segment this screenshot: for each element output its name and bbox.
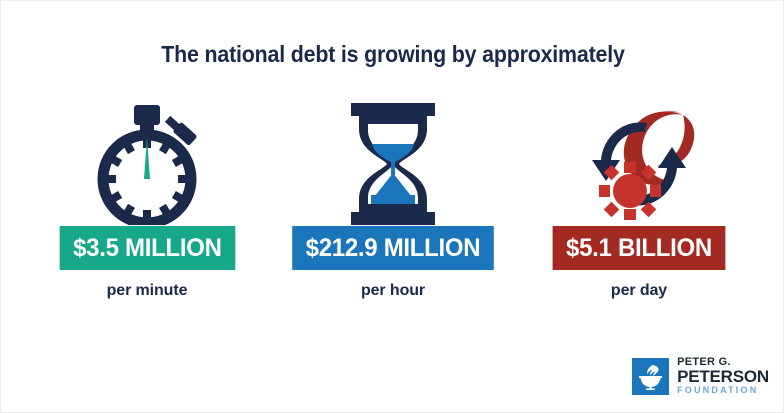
stat-period-per-day: per day: [611, 282, 667, 300]
stat-amount-per-day: $5.1 BILLION: [553, 226, 726, 270]
stat-amount-per-minute: $3.5 MILLION: [59, 226, 234, 270]
stat-card-per-minute: $3.5 MILLION per minute: [31, 101, 263, 300]
day-night-cycle-icon: [577, 101, 701, 226]
logo-wordmark: PETER G. PETERSON FOUNDATION: [677, 357, 769, 396]
stopwatch-icon: [87, 101, 207, 226]
logo-line-foundation: FOUNDATION: [677, 385, 769, 396]
infographic-canvas: The national debt is growing by approxim…: [0, 0, 784, 413]
stats-row: $3.5 MILLION per minute: [31, 101, 755, 300]
stat-card-per-day: $5.1 BILLION per day: [523, 101, 755, 300]
stat-card-per-hour: $212.9 MILLION per hour: [277, 101, 509, 300]
peterson-foundation-logo: PETER G. PETERSON FOUNDATION: [632, 357, 769, 396]
hourglass-icon: [341, 101, 445, 226]
page-title: The national debt is growing by approxim…: [28, 41, 757, 68]
logo-line-peterson: PETERSON: [677, 368, 769, 385]
stat-period-per-minute: per minute: [107, 282, 188, 300]
torch-bowl-icon: [632, 358, 669, 395]
stat-amount-per-hour: $212.9 MILLION: [292, 226, 494, 270]
stat-period-per-hour: per hour: [361, 282, 425, 300]
